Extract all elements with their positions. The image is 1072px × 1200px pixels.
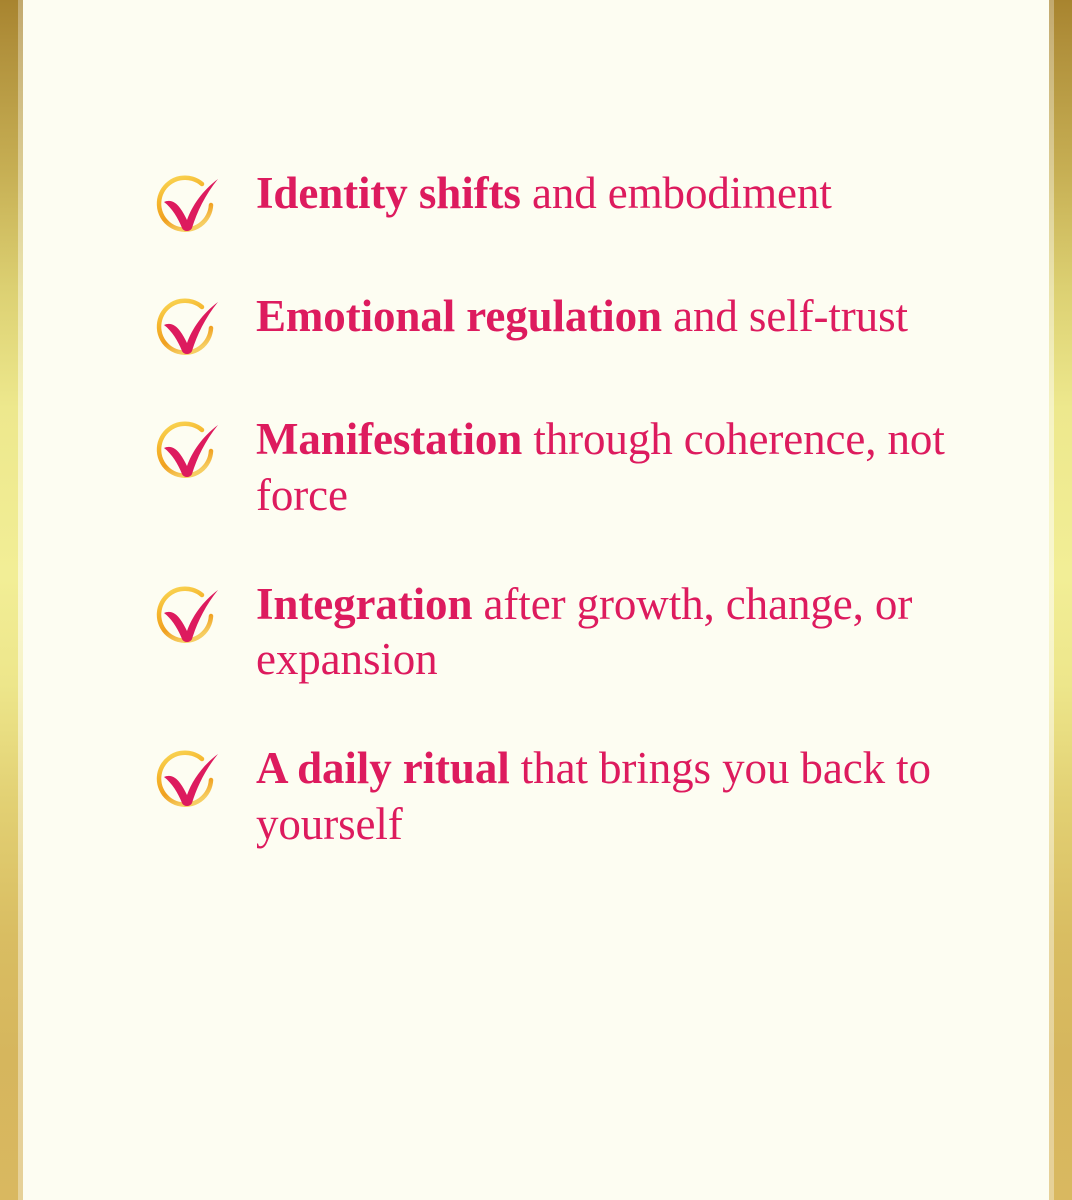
list-item-lead: Identity shifts bbox=[256, 168, 521, 218]
list-item: Integration after growth, change, or exp… bbox=[152, 579, 982, 689]
list-item-lead: A daily ritual bbox=[256, 743, 510, 793]
slide-canvas: Identity shifts and embodiment bbox=[0, 0, 1072, 1200]
list-item-lead: Integration bbox=[256, 579, 472, 629]
list-item-rest: and self-trust bbox=[662, 291, 908, 341]
list-item: A daily ritual that brings you back to y… bbox=[152, 743, 982, 853]
check-circle-icon bbox=[156, 297, 230, 359]
list-item-text: Emotional regulation and self-trust bbox=[230, 289, 982, 345]
list-item: Identity shifts and embodiment bbox=[152, 168, 982, 236]
check-circle-icon bbox=[156, 174, 230, 236]
list-item-text: Identity shifts and embodiment bbox=[230, 166, 982, 222]
list-item: Emotional regulation and self-trust bbox=[152, 291, 982, 359]
right-gold-border bbox=[1049, 0, 1072, 1200]
check-circle-icon bbox=[156, 420, 230, 482]
left-gold-border bbox=[0, 0, 23, 1200]
check-circle-icon bbox=[156, 585, 230, 647]
list-item-text: A daily ritual that brings you back to y… bbox=[230, 741, 982, 853]
check-circle-icon bbox=[156, 749, 230, 811]
list-item-rest: and embodiment bbox=[521, 168, 832, 218]
list-item-text: Integration after growth, change, or exp… bbox=[230, 577, 982, 689]
list-item: Manifestation through coherence, not for… bbox=[152, 414, 982, 524]
checklist: Identity shifts and embodiment bbox=[152, 168, 982, 853]
list-item-lead: Manifestation bbox=[256, 414, 522, 464]
list-item-lead: Emotional regulation bbox=[256, 291, 662, 341]
list-item-text: Manifestation through coherence, not for… bbox=[230, 412, 982, 524]
